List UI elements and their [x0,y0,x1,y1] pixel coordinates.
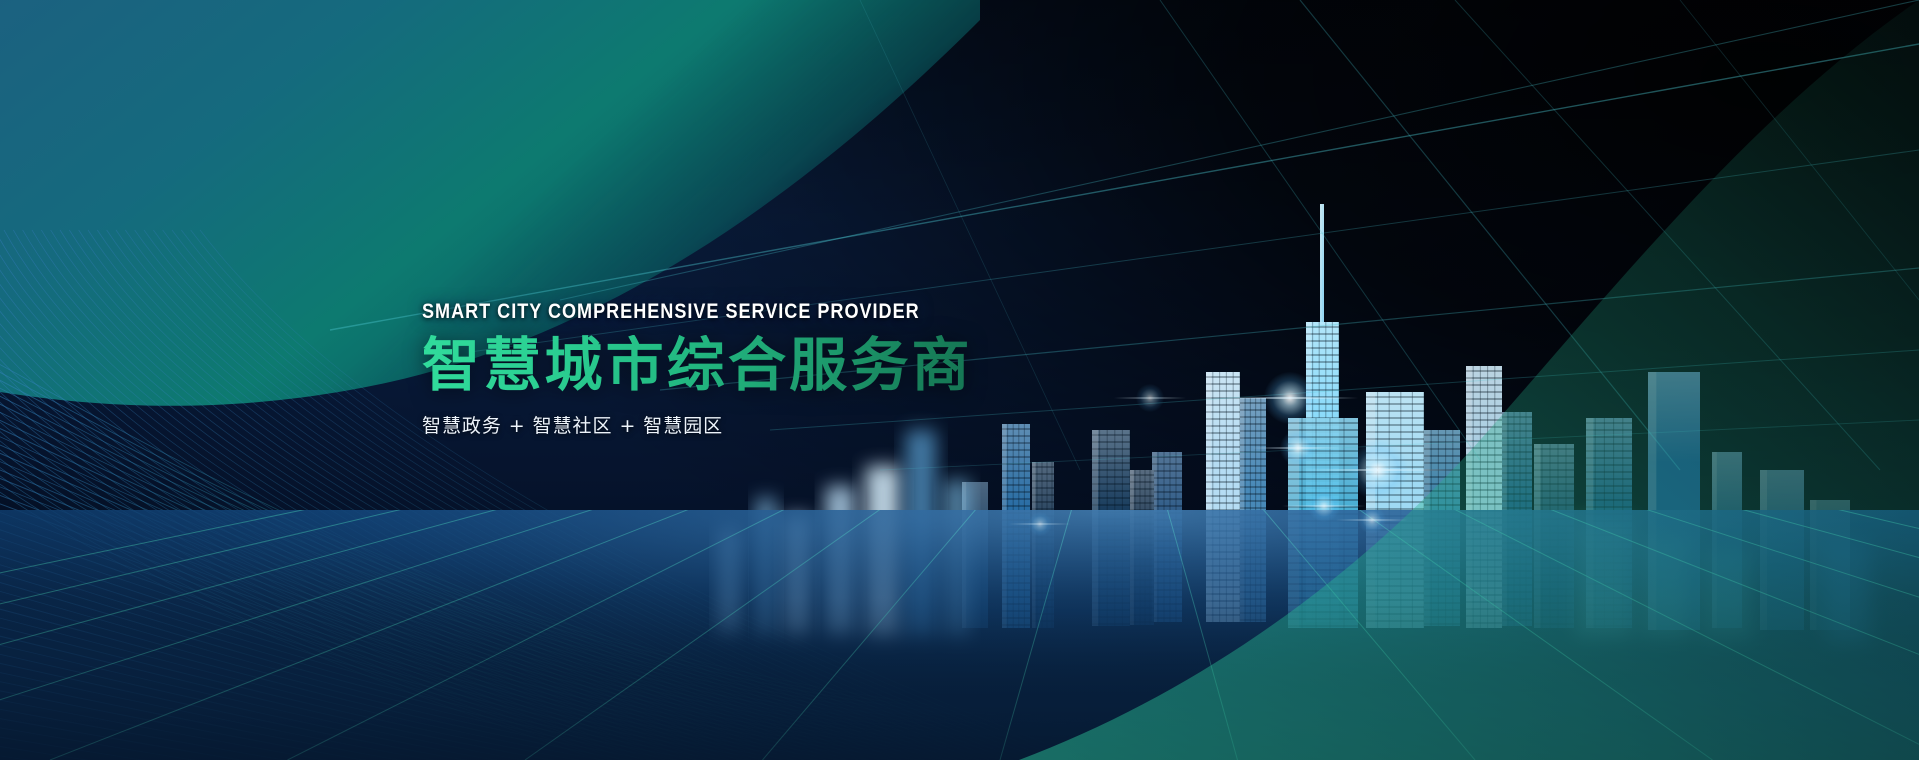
lens-flare-streak [1251,447,1345,449]
lens-flare-streak [1114,397,1187,399]
lens-flare [1280,430,1316,466]
smart-city-hero-banner: SMART CITY COMPREHENSIVE SERVICE PROVIDE… [0,0,1919,760]
lens-flare-streak [1336,519,1409,521]
lens-flare-streak [1009,523,1071,525]
lens-flare [1348,440,1408,500]
lens-flare-streak [1300,469,1456,471]
hero-eyebrow: SMART CITY COMPREHENSIVE SERVICE PROVIDE… [422,300,920,324]
hero-headline: 智慧城市综合服务商 [422,335,1001,395]
lens-flare [1028,512,1052,536]
lens-flare [1308,490,1340,522]
lens-flare [1264,372,1316,424]
hero-text-block: SMART CITY COMPREHENSIVE SERVICE PROVIDE… [422,300,1001,438]
hero-subline: 智慧政务 + 智慧社区 + 智慧园区 [422,411,1001,438]
lens-flare-streak [1282,505,1365,507]
lens-flare [1136,384,1164,412]
lens-flare [1358,506,1386,534]
lens-flare-streak [1222,397,1357,399]
